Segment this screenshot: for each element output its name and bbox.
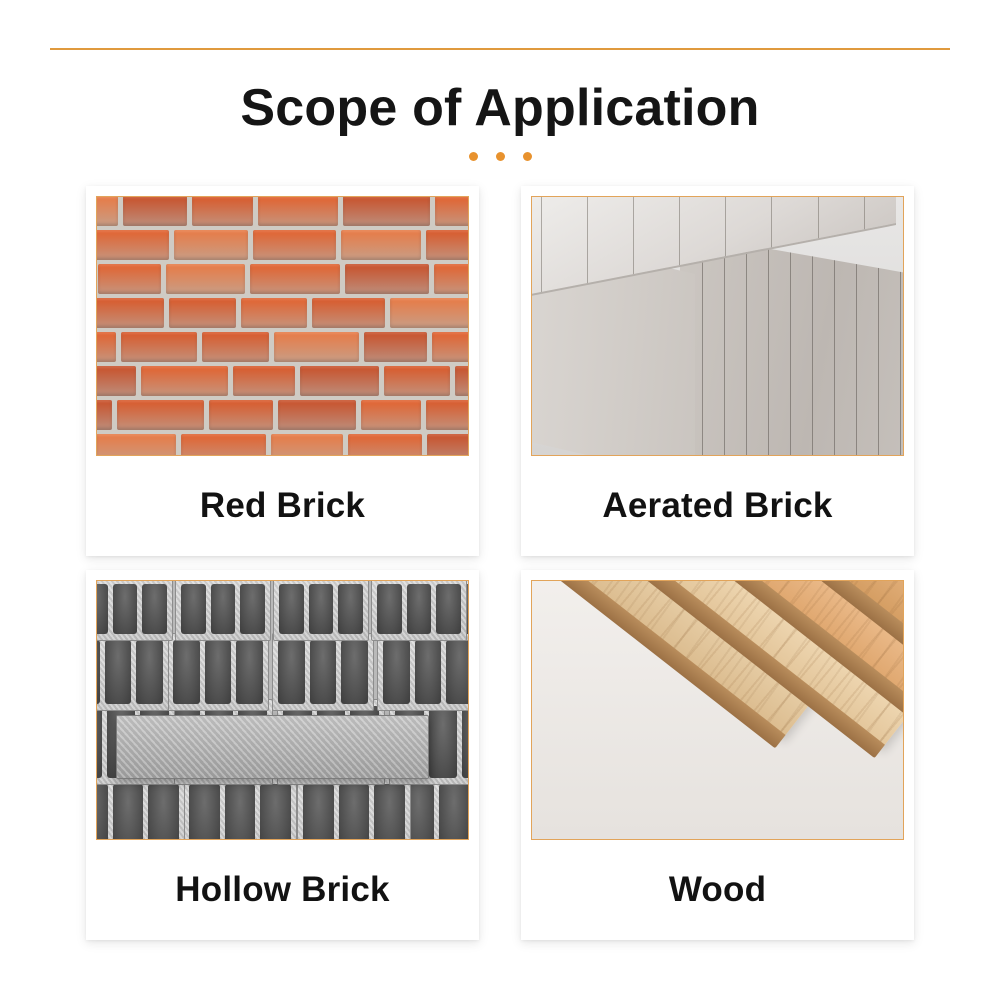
card-aerated-brick[interactable]: Aerated Brick: [521, 186, 914, 556]
wood-image-frame: [531, 580, 904, 840]
separator-dot-2: [496, 152, 505, 161]
page-header: Scope of Application: [0, 78, 1000, 162]
card-wood[interactable]: Wood: [521, 570, 914, 940]
aerated-brick-image-frame: [531, 196, 904, 456]
card-label-hollow-brick: Hollow Brick: [175, 840, 389, 940]
scope-of-application-page: Scope of Application Red Brick: [0, 0, 1000, 1000]
red-brick-image-frame: [96, 196, 469, 456]
hollow-brick-image-frame: [96, 580, 469, 840]
card-red-brick[interactable]: Red Brick: [86, 186, 479, 556]
application-card-grid: Red Brick Aerated Brick: [86, 186, 914, 940]
separator-dot-1: [469, 152, 478, 161]
card-hollow-brick[interactable]: Hollow Brick: [86, 570, 479, 940]
top-divider-rule: [50, 48, 950, 50]
card-label-red-brick: Red Brick: [200, 456, 365, 556]
page-title: Scope of Application: [0, 78, 1000, 138]
card-label-wood: Wood: [669, 840, 766, 940]
red-brick-image: [97, 197, 468, 455]
aerated-brick-image: [532, 197, 903, 455]
wood-image: [532, 581, 903, 839]
dot-separator: [0, 150, 1000, 162]
separator-dot-3: [523, 152, 532, 161]
hollow-brick-image: [97, 581, 468, 839]
card-label-aerated-brick: Aerated Brick: [602, 456, 832, 556]
